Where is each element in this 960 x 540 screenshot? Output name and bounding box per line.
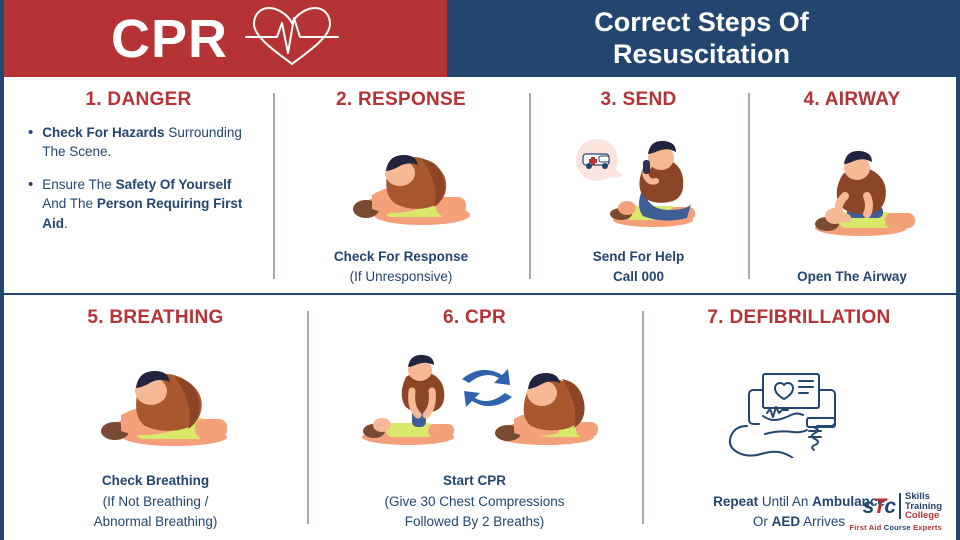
bullet-text: Check For Hazards Surrounding The Scene. [42, 123, 255, 161]
aed-defibrillator-illustration [652, 335, 946, 492]
person-calling-ambulance-illustration [539, 117, 738, 247]
header-subtitle-panel: Correct Steps Of Resuscitation [447, 0, 956, 77]
list-item: • Ensure The Safety Of Yourself And The … [28, 175, 255, 232]
step-title-airway: 4. AIRWAY [803, 89, 900, 111]
step-card-breathing: 5. BREATHING Check Breathing (If No [4, 295, 307, 538]
danger-bullet-list: • Check For Hazards Surrounding The Scen… [14, 117, 263, 247]
step-title-send: 3. SEND [600, 89, 676, 111]
poster-header: CPR Correct Steps Of Resuscitation [4, 0, 956, 77]
header-title-line-2: Resuscitation [594, 39, 809, 71]
bullet-dot-icon: • [28, 175, 33, 232]
caption-line: Start CPR [384, 471, 564, 491]
logo-word-college: College [905, 511, 942, 521]
person-opening-airway-illustration [758, 117, 946, 267]
caption-line: Send For Help [593, 247, 685, 267]
header-title: Correct Steps Of Resuscitation [594, 7, 809, 70]
steps-row-bottom: 5. BREATHING Check Breathing (If No [4, 295, 956, 538]
step-title-breathing: 5. BREATHING [87, 307, 223, 329]
caption-line: Abnormal Breathing) [94, 512, 218, 532]
caption-line: Open The Airway [797, 267, 907, 287]
step-caption-airway: Open The Airway [797, 267, 907, 287]
logo-monogram: sTc [863, 496, 895, 517]
logo-mark-row: sTc Skills Training College [863, 492, 942, 521]
step-caption-cpr: Start CPR (Give 30 Chest Compressions Fo… [384, 471, 564, 532]
bullet-dot-icon: • [28, 123, 33, 161]
logo-divider [899, 493, 901, 519]
caption-line: Followed By 2 Breaths) [384, 512, 564, 532]
person-checking-breathing-illustration [14, 335, 297, 471]
bullet-text: Ensure The Safety Of Yourself And The Pe… [42, 175, 255, 232]
step-title-danger: 1. DANGER [85, 89, 191, 111]
caption-line: Check Breathing [94, 471, 218, 491]
step-card-send: 3. SEND [529, 77, 748, 293]
caption-line: (If Not Breathing / [94, 492, 218, 512]
list-item: • Check For Hazards Surrounding The Scen… [28, 123, 255, 161]
steps-row-top: 1. DANGER • Check For Hazards Surroundin… [4, 77, 956, 295]
step-card-danger: 1. DANGER • Check For Hazards Surroundin… [4, 77, 273, 293]
step-title-defibrillation: 7. DEFIBRILLATION [707, 307, 890, 329]
step-title-response: 2. RESPONSE [336, 89, 466, 111]
chest-compressions-and-rescue-breaths-illustration [317, 335, 632, 471]
step-card-airway: 4. AIRWAY Open The Airway [748, 77, 956, 293]
cpr-infographic-poster: CPR Correct Steps Of Resuscitation 1. DA… [0, 0, 960, 540]
step-title-cpr: 6. CPR [443, 307, 506, 329]
logo-tagline: First Aid Course Experts [850, 523, 942, 532]
step-caption-breathing: Check Breathing (If Not Breathing / Abno… [94, 471, 218, 532]
step-caption-send: Send For Help Call 000 [593, 247, 685, 288]
header-title-line-1: Correct Steps Of [594, 7, 809, 39]
caption-line: (Give 30 Chest Compressions [384, 492, 564, 512]
caption-line: Call 000 [593, 267, 685, 287]
header-brand-panel: CPR [4, 0, 447, 77]
person-checking-response-illustration [283, 117, 519, 247]
caption-line: Check For Response [334, 247, 468, 267]
stc-logo: sTc Skills Training College First Aid Co… [850, 492, 942, 532]
step-caption-response: Check For Response (If Unresponsive) [334, 247, 468, 288]
heart-ecg-icon [244, 5, 340, 72]
page-title: CPR [111, 12, 228, 66]
logo-wordmark: Skills Training College [905, 492, 942, 521]
step-card-cpr: 6. CPR [307, 295, 642, 538]
caption-line: (If Unresponsive) [334, 267, 468, 287]
step-card-response: 2. RESPONSE Check For Response (If [273, 77, 529, 293]
